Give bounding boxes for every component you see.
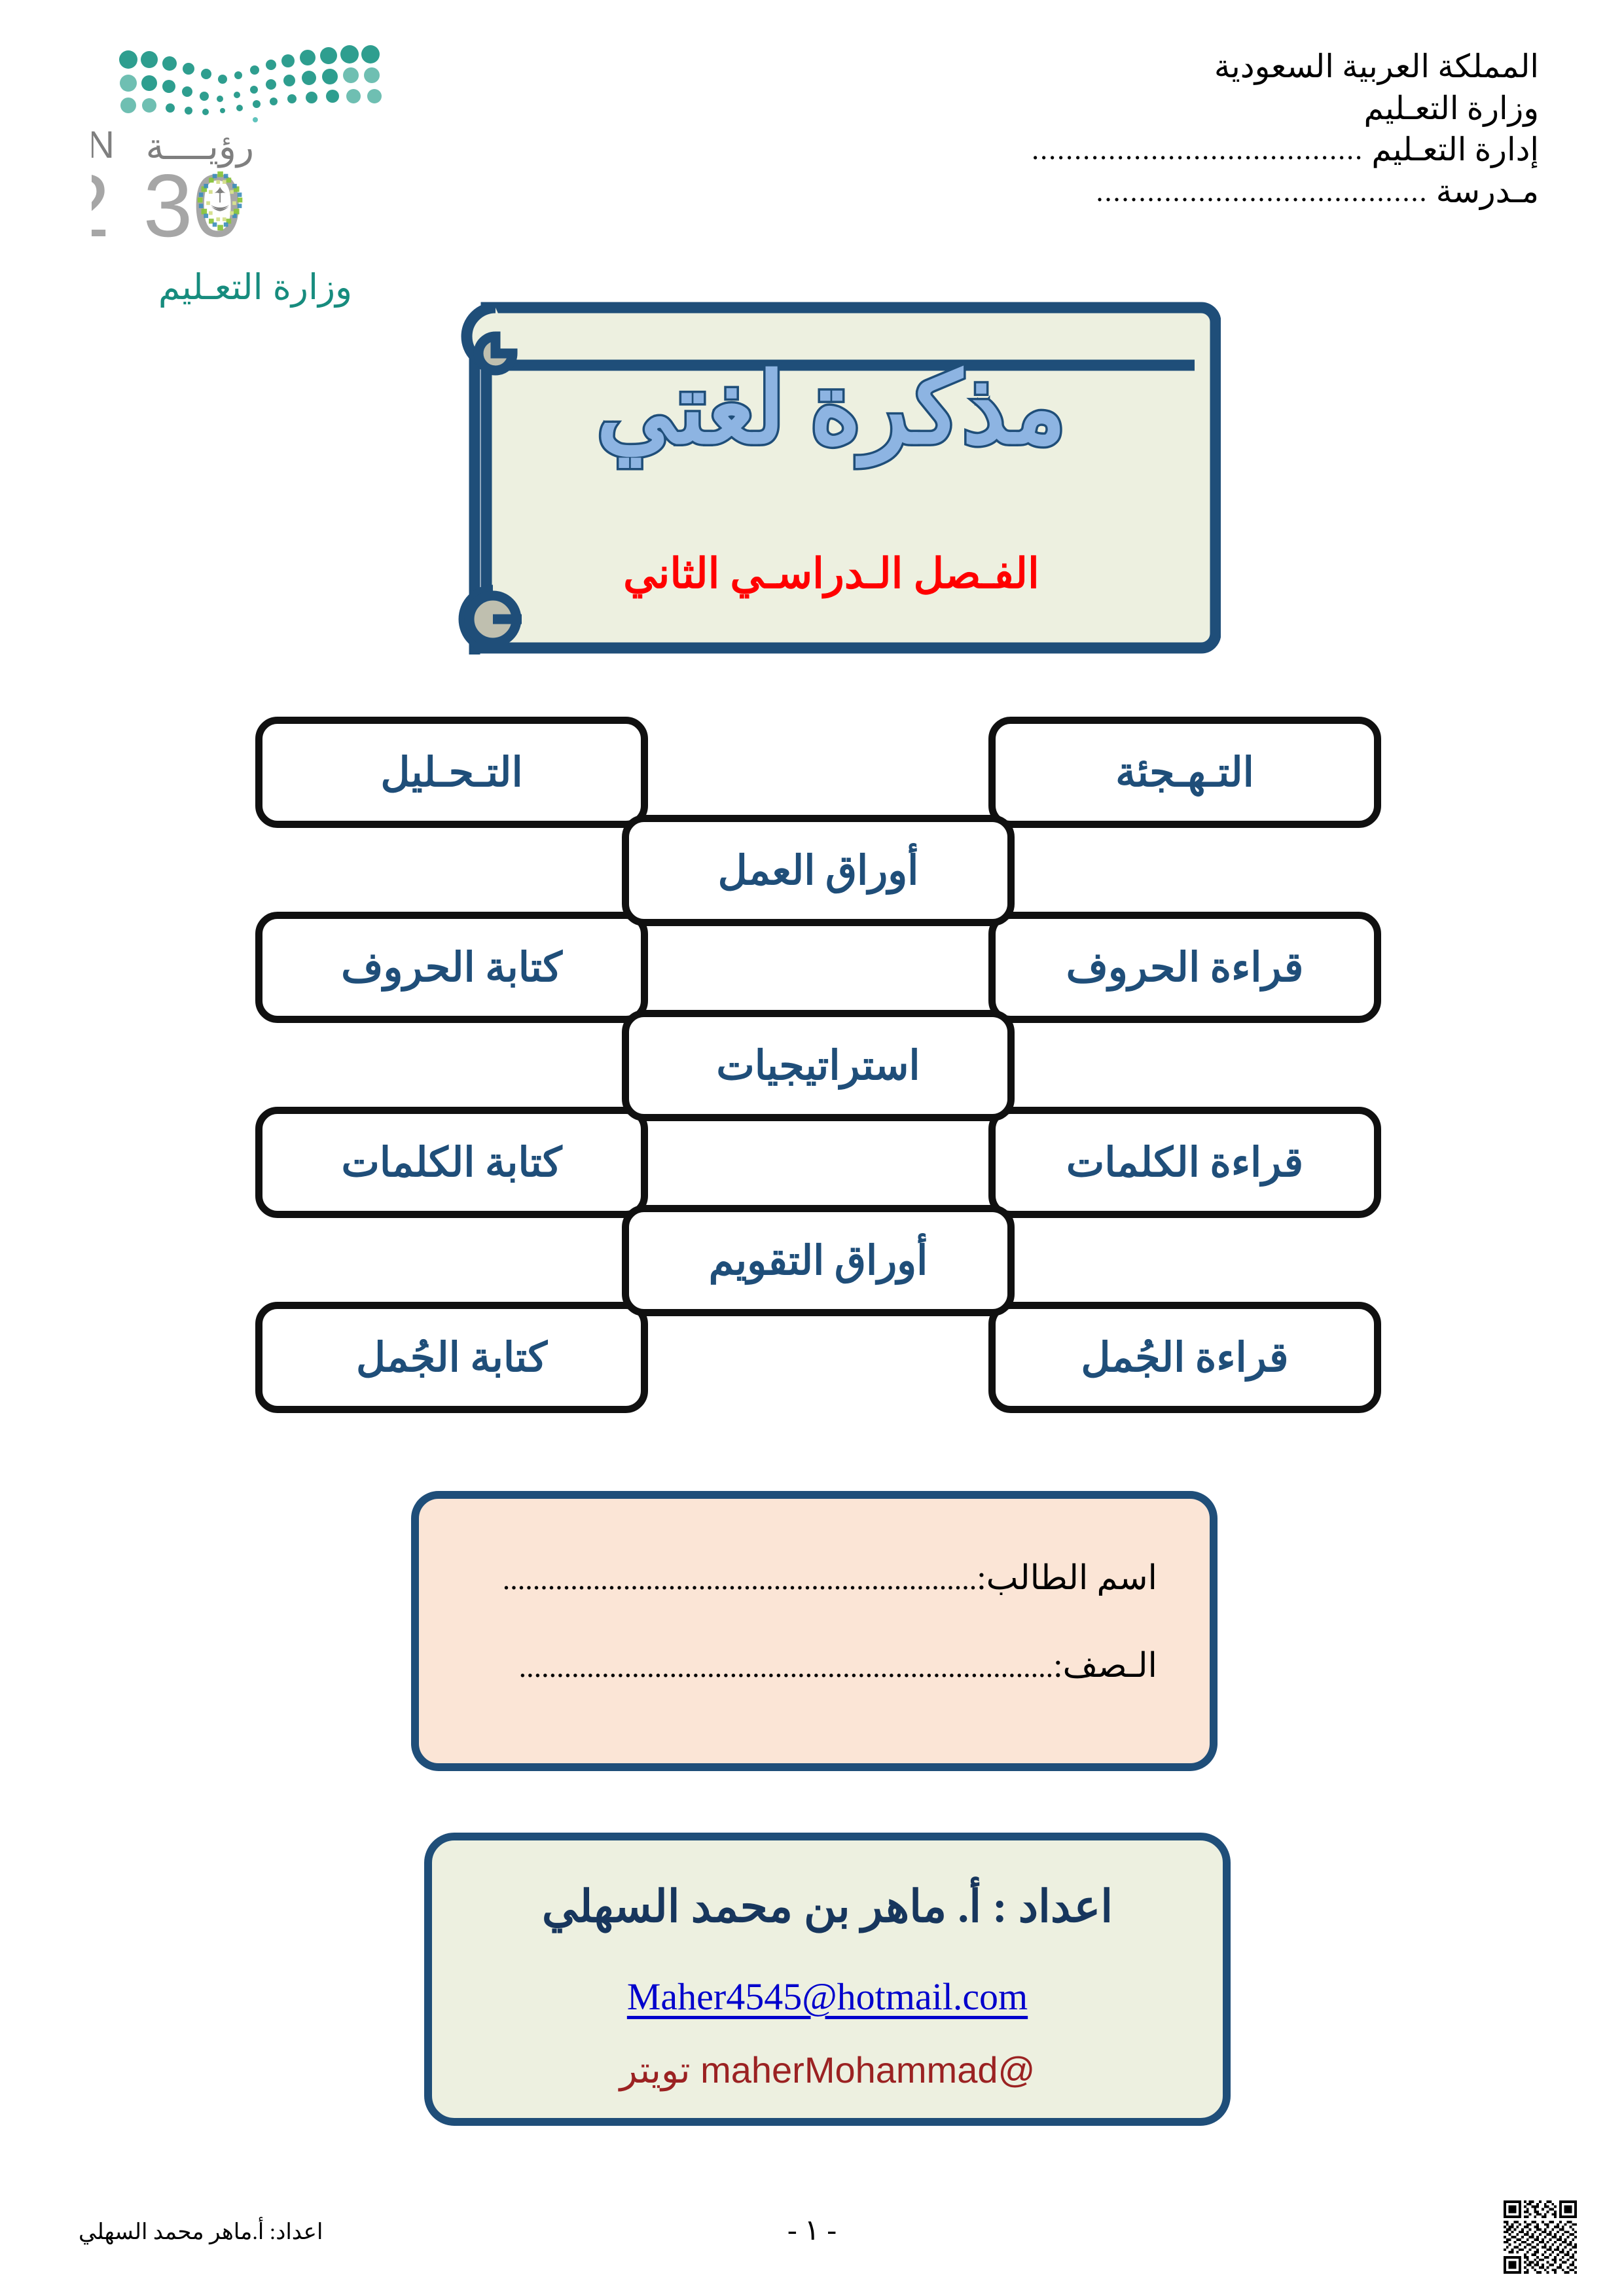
grid-box-mid-2[interactable]: استراتيجيات (622, 1010, 1015, 1121)
page-footer: اعداد: أ.ماهر محمد السهلي - ١ - (0, 2191, 1624, 2296)
grid-box-right-1[interactable]: التـهـجئة (988, 717, 1381, 828)
header-admin-dots: ....................................... (1032, 131, 1363, 168)
grid-box-right-2[interactable]: قراءة الحروف (988, 912, 1381, 1023)
student-name-dots: ........................................… (503, 1562, 977, 1596)
svg-text:30: 30 (143, 156, 242, 255)
document-page: المملكة العربية السعودية وزارة التعـليم … (0, 0, 1624, 2296)
header-school: مـدرسة .................................… (1032, 171, 1539, 213)
student-grade-dots: ........................................… (519, 1650, 1054, 1683)
vision-2030-logo: VISION رؤيــــة 2 30 (92, 36, 419, 311)
logo-ministry-text: وزارة التعـليم (158, 268, 352, 308)
grid-box-left-4[interactable]: كتابة الجُمل (255, 1302, 648, 1413)
logo-dot-pattern (119, 45, 382, 122)
grid-box-mid-1[interactable]: أوراق العمل (622, 815, 1015, 926)
svg-text:2: 2 (92, 156, 110, 255)
student-grade-field[interactable]: الـصف:..................................… (458, 1649, 1157, 1683)
author-email-link[interactable]: Maher4545@hotmail.com (432, 1975, 1223, 2018)
student-grade-label: الـصف: (1053, 1649, 1157, 1683)
skills-grid: التـهـجئة قراءة الحروف قراءة الكلمات قرا… (255, 717, 1381, 1414)
header-school-label: مـدرسة (1436, 173, 1539, 209)
grid-box-right-4[interactable]: قراءة الجُمل (988, 1302, 1381, 1413)
grid-box-right-3[interactable]: قراءة الكلمات (988, 1107, 1381, 1218)
banner-title: مذكرة لغتي (504, 359, 1159, 462)
author-name: اعداد : أ. ماهر بن محمد السهلي (432, 1881, 1223, 1933)
header-school-dots: ....................................... (1096, 173, 1428, 210)
student-name-field[interactable]: اسم الطالب:.............................… (458, 1562, 1157, 1596)
title-scroll-banner: مذكرة لغتي الفـصل الـدراسـي الثاني (409, 288, 1221, 668)
footer-page-number: - ١ - (0, 2214, 1624, 2247)
header-ministry: وزارة التعـليم (1032, 88, 1539, 130)
grid-box-left-3[interactable]: كتابة الكلمات (255, 1107, 648, 1218)
author-twitter-handle[interactable]: @maherMohammad تويتر (432, 2049, 1223, 2092)
author-credit-box: اعداد : أ. ماهر بن محمد السهلي Maher4545… (424, 1833, 1231, 2126)
grid-box-left-1[interactable]: التـحـليل (255, 717, 648, 828)
student-info-box: اسم الطالب:.............................… (411, 1491, 1218, 1771)
qr-code-icon (1504, 2200, 1577, 2274)
student-name-label: اسم الطالب: (977, 1562, 1157, 1596)
header-education-admin-label: إدارة التعـليم (1371, 132, 1539, 168)
banner-subtitle: الفـصل الـدراسـي الثاني (504, 550, 1159, 598)
header-education-admin: إدارة التعـليم .........................… (1032, 129, 1539, 171)
header-country: المملكة العربية السعودية (1032, 46, 1539, 88)
document-header: المملكة العربية السعودية وزارة التعـليم … (1032, 46, 1539, 213)
grid-box-left-2[interactable]: كتابة الحروف (255, 912, 648, 1023)
grid-box-mid-3[interactable]: أوراق التقويم (622, 1205, 1015, 1316)
